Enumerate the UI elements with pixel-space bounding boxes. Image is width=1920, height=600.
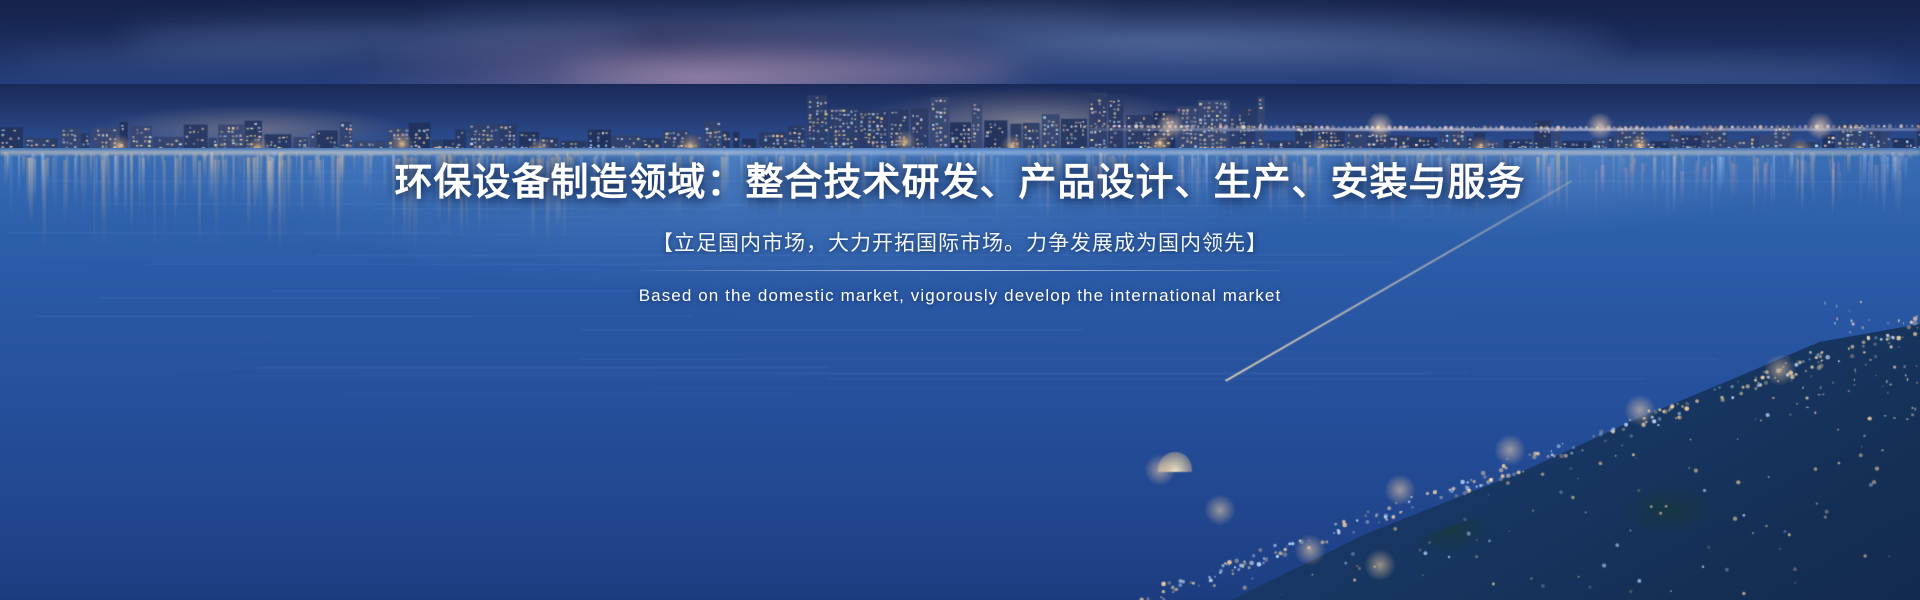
cloud-wisp bbox=[420, 8, 1120, 28]
banner-text-block: 环保设备制造领域：整合技术研发、产品设计、生产、安装与服务 【立足国内市场，大力… bbox=[0, 160, 1920, 307]
cloud-wisp bbox=[120, 26, 640, 52]
cloud-wisp bbox=[980, 34, 1620, 58]
cloud-wisp bbox=[1380, 62, 1900, 82]
park-lights-layer bbox=[1080, 300, 1920, 600]
banner-subtitle-zh: 【立足国内市场，大力开拓国际市场。力争发展成为国内领先】 bbox=[0, 230, 1920, 257]
cloud-wisp bbox=[0, 50, 360, 68]
hero-banner: 环保设备制造领域：整合技术研发、产品设计、生产、安装与服务 【立足国内市场，大力… bbox=[0, 0, 1920, 600]
banner-subtitle-en: Based on the domestic market, vigorously… bbox=[0, 285, 1920, 307]
banner-title: 环保设备制造领域：整合技术研发、产品设计、生产、安装与服务 bbox=[0, 160, 1920, 208]
text-divider bbox=[640, 270, 1280, 271]
